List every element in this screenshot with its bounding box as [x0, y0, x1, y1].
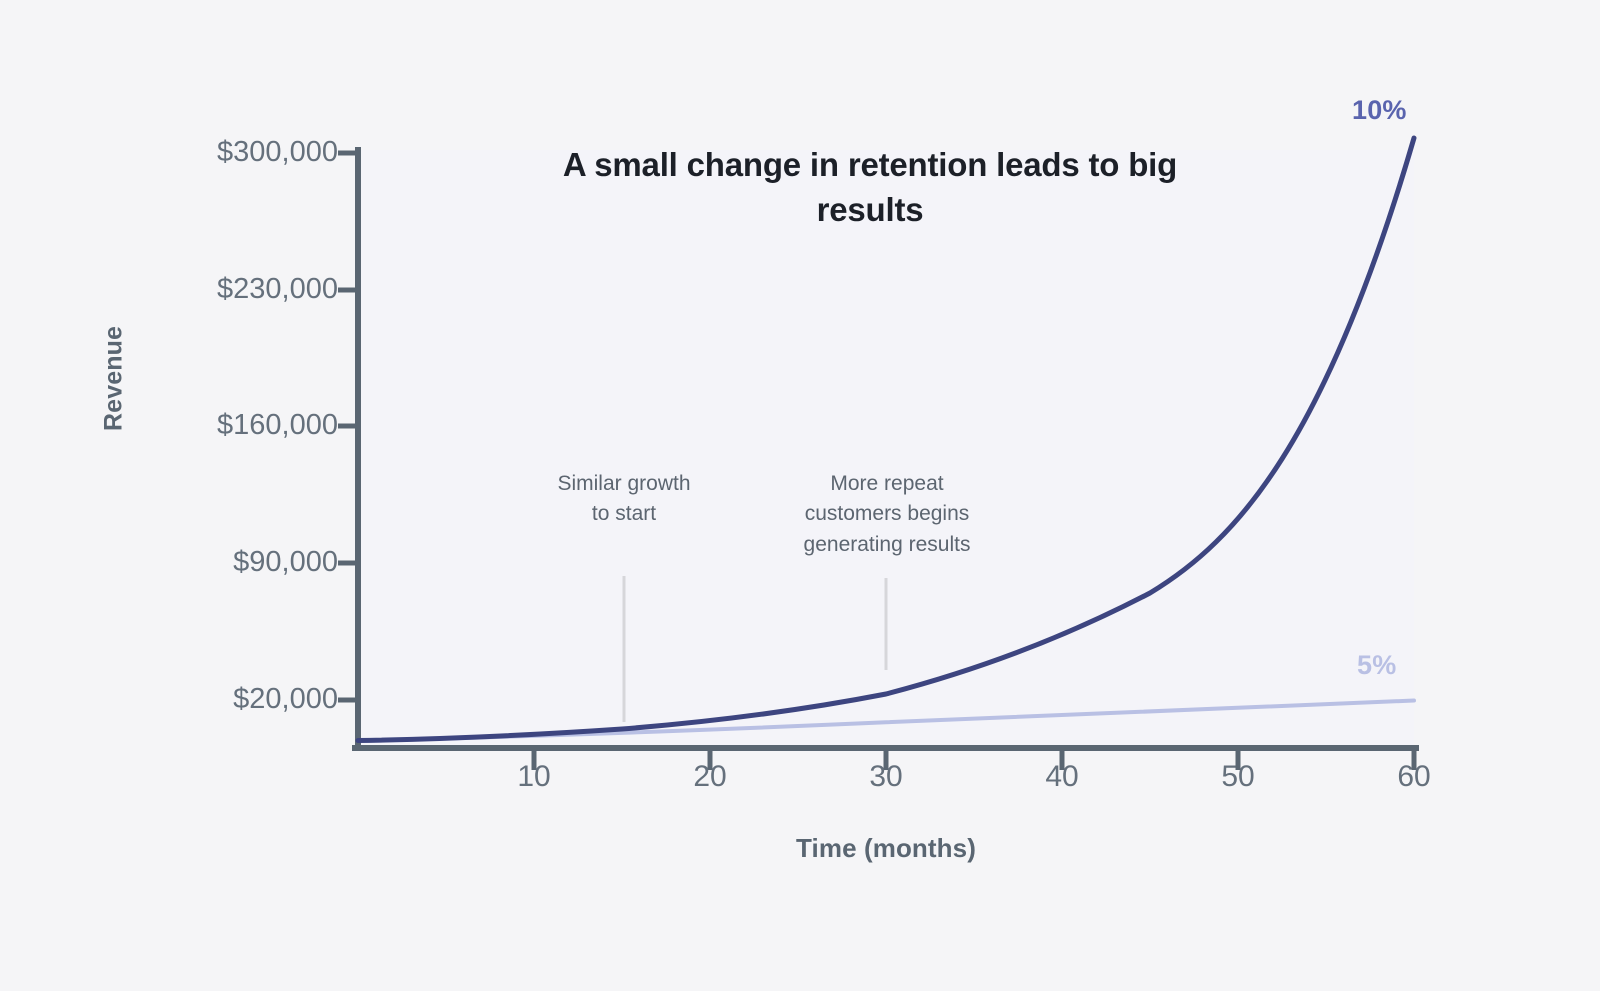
chart-canvas: Revenue $300,000 $230,000 $160,000 $90,0… — [0, 0, 1600, 991]
annotation-more-repeat-line-3: generating results — [752, 530, 1022, 560]
series-label-5-percent: 5% — [1357, 650, 1396, 681]
y-tick-label-300000: $300,000 — [217, 138, 338, 167]
chart-title: A small change in retention leads to big… — [560, 143, 1180, 232]
y-tick-label-160000: $160,000 — [217, 411, 338, 440]
x-axis-title: Time (months) — [358, 833, 1414, 864]
y-tick-label-20000: $20,000 — [233, 685, 338, 714]
x-tick-label-30: 30 — [846, 762, 926, 792]
x-tick-label-10: 10 — [494, 762, 574, 792]
y-tick-label-90000: $90,000 — [233, 548, 338, 577]
annotation-more-repeat-line-1: More repeat — [752, 469, 1022, 499]
x-tick-label-60: 60 — [1374, 762, 1454, 792]
series-label-10-percent: 10% — [1352, 95, 1407, 126]
annotation-more-repeat-line-2: customers begins — [752, 499, 1022, 529]
x-tick-label-50: 50 — [1198, 762, 1278, 792]
annotation-more-repeat: More repeat customers begins generating … — [752, 469, 1022, 560]
y-axis-title: Revenue — [100, 259, 129, 499]
annotation-similar-growth: Similar growth to start — [494, 469, 754, 530]
x-axis-ticks — [534, 748, 1414, 770]
y-tick-label-230000: $230,000 — [217, 275, 338, 304]
annotation-similar-growth-line-2: to start — [494, 499, 754, 529]
annotation-similar-growth-line-1: Similar growth — [494, 469, 754, 499]
x-tick-label-40: 40 — [1022, 762, 1102, 792]
x-tick-label-20: 20 — [670, 762, 750, 792]
